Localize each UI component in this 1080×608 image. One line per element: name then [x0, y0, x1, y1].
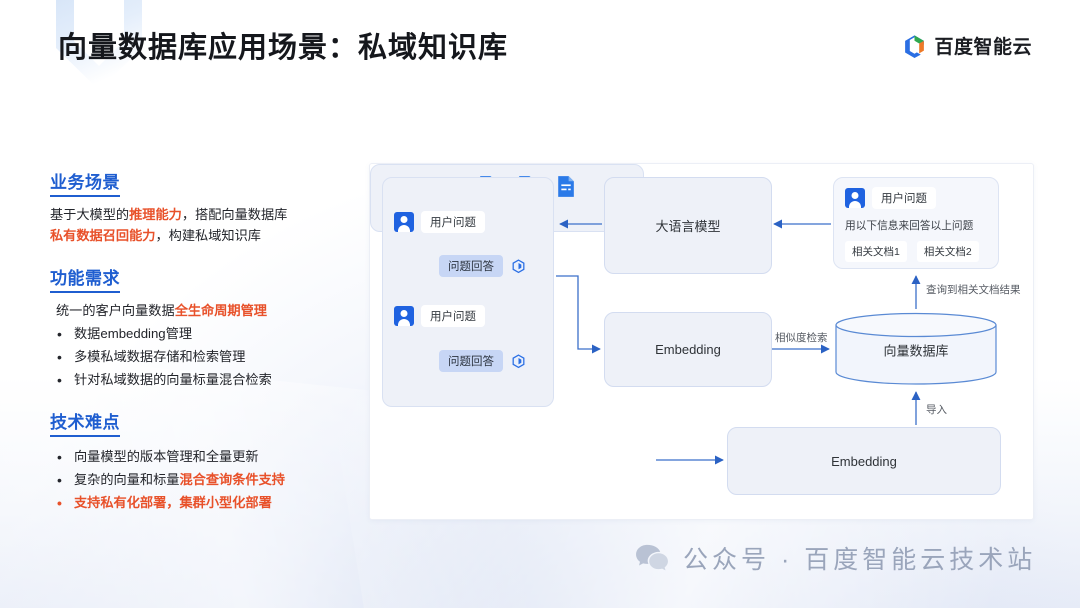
- edge-label-import: 导入: [926, 402, 947, 417]
- context-instruction: 用以下信息来回答以上问题: [845, 218, 987, 233]
- context-doc-chip: 相关文档2: [917, 241, 979, 262]
- architecture-diagram: 用户问题 问题回答 用户问题 问题回答: [369, 163, 1034, 520]
- list-item: 针对私域数据的向量标量混合检索: [50, 369, 350, 392]
- retrieved-context-panel: 用户问题 用以下信息来回答以上问题 相关文档1 相关文档2: [833, 177, 999, 269]
- node-label: 大语言模型: [655, 216, 720, 235]
- wenxin-cube-icon: [510, 352, 527, 371]
- chat-answer-row: 问题回答: [439, 255, 527, 277]
- list-item-text: 支持私有化部署，集群小型化部署: [74, 495, 272, 510]
- paragraph-text: 基于大模型的: [50, 207, 129, 222]
- node-vector-database: 向量数据库: [833, 312, 999, 385]
- edge-label-query-result: 查询到相关文档结果: [926, 282, 1021, 297]
- bullet-list: 数据embedding管理 多模私域数据存储和检索管理 针对私域数据的向量标量混…: [50, 323, 350, 391]
- page-title: 向量数据库应用场景：私域知识库: [58, 24, 508, 66]
- node-large-language-model: 大语言模型: [604, 177, 772, 274]
- footer-wechat-banner: 公众号 · 百度智能云技术站: [635, 540, 1036, 576]
- user-avatar-icon: [845, 188, 865, 208]
- node-label: Embedding: [831, 454, 897, 469]
- lead-text: 统一的客户向量数据: [56, 303, 175, 318]
- footer-text: 公众号 · 百度智能云技术站: [683, 540, 1036, 576]
- left-text-column: 业务场景 基于大模型的推理能力，搭配向量数据库 私有数据召回能力，构建私域知识库…: [50, 168, 350, 531]
- context-doc-chip: 相关文档1: [845, 241, 907, 262]
- section-paragraph: 基于大模型的推理能力，搭配向量数据库 私有数据召回能力，构建私域知识库: [50, 204, 350, 247]
- list-item-text: 复杂的向量和标量: [74, 472, 180, 487]
- chat-answer-bubble: 问题回答: [439, 255, 503, 277]
- context-question-row: 用户问题: [845, 187, 987, 209]
- context-question-bubble: 用户问题: [872, 187, 936, 209]
- node-embedding-ingest: Embedding: [727, 427, 1001, 495]
- chat-answer-row: 问题回答: [439, 350, 527, 372]
- node-embedding-query: Embedding: [604, 312, 772, 387]
- chat-panel: 用户问题 问题回答 用户问题 问题回答: [382, 177, 554, 407]
- section-lead-line: 统一的客户向量数据全生命周期管理: [50, 300, 350, 321]
- section-functional-requirements: 功能需求 统一的客户向量数据全生命周期管理 数据embedding管理 多模私域…: [50, 264, 350, 391]
- list-item: 向量模型的版本管理和全量更新: [50, 446, 350, 469]
- highlight-text: 全生命周期管理: [175, 303, 267, 318]
- slide-canvas: 向量数据库应用场景：私域知识库 百度智能云 业务场景 基于大模型的推理能力，搭配…: [0, 0, 1080, 608]
- section-heading: 技术难点: [50, 408, 120, 437]
- chat-question-row: 用户问题: [394, 305, 485, 327]
- node-label: Embedding: [655, 342, 721, 357]
- context-doc-row: 相关文档1 相关文档2: [845, 241, 987, 262]
- paragraph-text: ，构建私域知识库: [156, 228, 262, 243]
- chat-question-row: 用户问题: [394, 211, 485, 233]
- user-avatar-icon: [394, 212, 414, 232]
- section-heading: 业务场景: [50, 168, 120, 197]
- brand-logo: 百度智能云: [902, 32, 1032, 59]
- highlight-text: 混合查询条件支持: [180, 472, 286, 487]
- list-item: 数据embedding管理: [50, 323, 350, 346]
- baidu-cloud-logo-icon: [902, 33, 927, 58]
- list-item: 复杂的向量和标量混合查询条件支持: [50, 469, 350, 492]
- chat-answer-bubble: 问题回答: [439, 350, 503, 372]
- chat-question-bubble: 用户问题: [421, 211, 485, 233]
- highlight-text: 推理能力: [129, 207, 182, 222]
- wenxin-cube-icon: [510, 257, 527, 276]
- user-avatar-icon: [394, 306, 414, 326]
- chat-question-bubble: 用户问题: [421, 305, 485, 327]
- section-business-scenario: 业务场景 基于大模型的推理能力，搭配向量数据库 私有数据召回能力，构建私域知识库: [50, 168, 350, 247]
- paragraph-text: ，搭配向量数据库: [182, 207, 288, 222]
- highlight-text: 私有数据召回能力: [50, 228, 156, 243]
- wechat-icon: [635, 543, 669, 573]
- list-item: 支持私有化部署，集群小型化部署: [50, 492, 350, 515]
- section-technical-challenges: 技术难点 向量模型的版本管理和全量更新 复杂的向量和标量混合查询条件支持 支持私…: [50, 408, 350, 514]
- section-heading: 功能需求: [50, 264, 120, 293]
- brand-name: 百度智能云: [934, 32, 1032, 59]
- node-label: 向量数据库: [833, 340, 999, 359]
- edge-label-similarity-search: 相似度检索: [775, 330, 828, 345]
- list-item: 多模私域数据存储和检索管理: [50, 346, 350, 369]
- list-item-text: 向量模型的版本管理和全量更新: [74, 449, 259, 464]
- bullet-list: 向量模型的版本管理和全量更新 复杂的向量和标量混合查询条件支持 支持私有化部署，…: [50, 446, 350, 514]
